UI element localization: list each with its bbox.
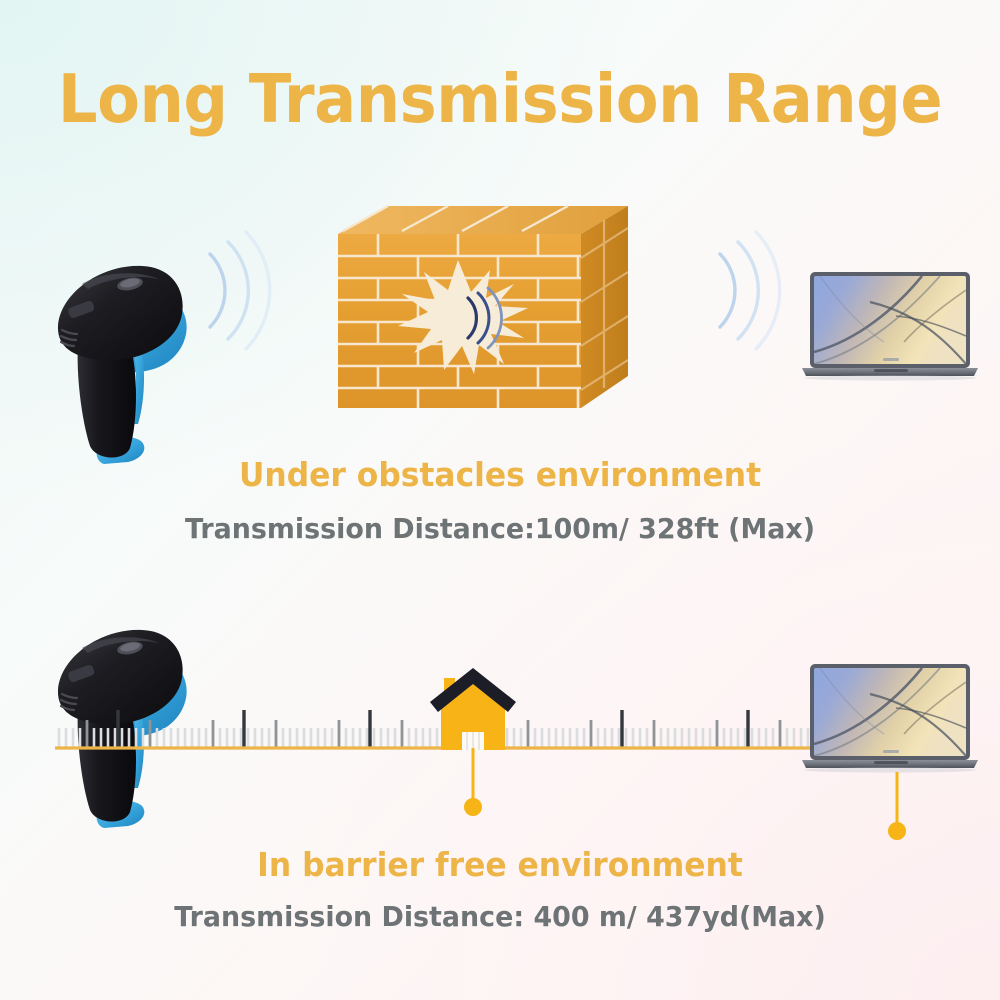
distance-marker-icon: [884, 772, 910, 842]
infographic-page: Long Transmission Range: [0, 0, 1000, 1000]
signal-wave-icon: [706, 228, 786, 353]
page-title: Long Transmission Range: [35, 66, 965, 133]
signal-wave-icon: [196, 228, 276, 353]
section-2-subheading: Transmission Distance: 400 m/ 437yd(Max): [20, 900, 980, 933]
section-1-subheading: Transmission Distance:100m/ 328ft (Max): [20, 512, 980, 545]
barcode-scanner-icon: [42, 248, 212, 478]
laptop-icon: [800, 660, 980, 780]
section-1-heading: Under obstacles environment: [25, 455, 975, 494]
distance-marker-icon: [460, 748, 486, 818]
laptop-icon: [800, 268, 980, 388]
section-2-heading: In barrier free environment: [25, 845, 975, 884]
house-icon: [424, 662, 522, 754]
brick-wall-icon: [338, 198, 628, 420]
